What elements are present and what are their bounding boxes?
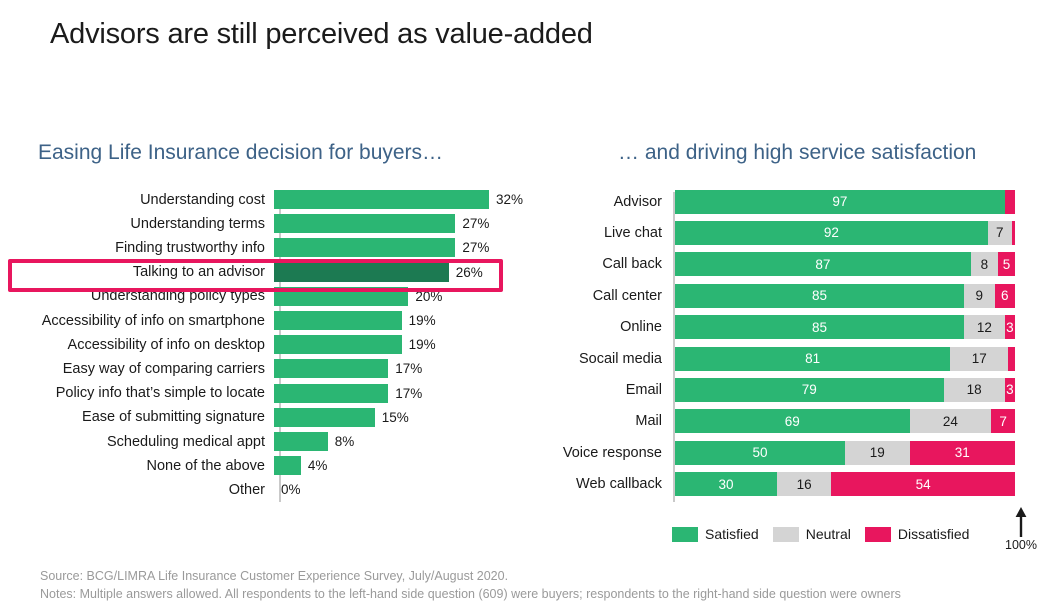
right-chart-stacked-bar: 927	[675, 221, 1015, 245]
right-chart-row: Socail media8117	[548, 343, 1048, 374]
left-chart-bar-wrapper: 15%	[274, 404, 540, 431]
footnotes: Source: BCG/LIMRA Life Insurance Custome…	[40, 568, 901, 604]
right-chart-row: Call back8785	[548, 249, 1048, 280]
left-chart-bar-wrapper: 27%	[274, 234, 540, 261]
right-chart-segment-dis: 3	[1005, 378, 1015, 402]
right-chart-category-label: Online	[548, 319, 668, 335]
left-chart-bar	[274, 359, 388, 378]
right-chart-row: Email79183	[548, 374, 1048, 405]
right-chart-segment-sat: 81	[675, 347, 950, 371]
left-chart-category-label: Understanding terms	[0, 216, 272, 232]
left-chart-row: Easy way of comparing carriers17%	[0, 355, 540, 382]
legend-swatch-icon	[865, 527, 891, 542]
left-chart-category-label: Scheduling medical appt	[0, 434, 272, 450]
right-chart-segment-sat: 69	[675, 409, 910, 433]
left-chart-bar-wrapper: 8%	[274, 428, 540, 455]
footnote-notes: Notes: Multiple answers allowed. All res…	[40, 586, 901, 604]
left-chart-bar-wrapper: 27%	[274, 210, 540, 237]
right-chart-segment-neu: 18	[944, 378, 1005, 402]
right-chart-segment-sat: 50	[675, 441, 845, 465]
left-chart-value-label: 4%	[308, 458, 328, 473]
chart-legend: SatisfiedNeutralDissatisfied	[672, 526, 969, 542]
left-chart-value-label: 15%	[382, 410, 409, 425]
right-chart-segment-dis	[1012, 221, 1015, 245]
right-chart-stacked-bar: 8596	[675, 284, 1015, 308]
left-chart-bar	[274, 214, 455, 233]
right-chart-segment-neu: 12	[964, 315, 1005, 339]
right-chart-row: Web callback301654	[548, 469, 1048, 500]
left-chart-bar-wrapper: 26%	[274, 259, 540, 286]
right-chart-segment-sat: 85	[675, 284, 964, 308]
left-chart-category-label: Accessibility of info on smartphone	[0, 313, 272, 329]
legend-item[interactable]: Neutral	[773, 526, 851, 542]
right-chart-stacked-bar: 301654	[675, 472, 1015, 496]
left-chart-bar-wrapper: 32%	[274, 186, 540, 213]
right-chart-row: Online85123	[548, 312, 1048, 343]
right-chart-segment-neu: 19	[845, 441, 910, 465]
left-chart-category-label: Other	[0, 482, 272, 498]
right-chart-row: Advisor97	[548, 186, 1048, 217]
left-chart-value-label: 8%	[335, 434, 355, 449]
left-chart-bar	[274, 408, 375, 427]
right-chart-segment-sat: 30	[675, 472, 777, 496]
right-chart-segment-neu: 24	[910, 409, 992, 433]
left-chart-category-label: Ease of submitting signature	[0, 409, 272, 425]
right-chart-segment-neu: 8	[971, 252, 998, 276]
left-chart-value-label: 17%	[395, 386, 422, 401]
left-panel-subtitle: Easing Life Insurance decision for buyer…	[38, 141, 443, 165]
left-chart-bar	[274, 287, 408, 306]
left-chart-value-label: 0%	[281, 482, 301, 497]
left-chart-value-label: 19%	[409, 313, 436, 328]
left-chart-bar	[274, 432, 328, 451]
left-chart-bar	[274, 190, 489, 209]
right-chart-row: Call center8596	[548, 280, 1048, 311]
right-chart-category-label: Advisor	[548, 194, 668, 210]
left-chart-value-label: 20%	[415, 289, 442, 304]
right-chart-category-label: Mail	[548, 413, 668, 429]
left-chart-row: Scheduling medical appt8%	[0, 428, 540, 455]
left-chart-category-label: Understanding cost	[0, 192, 272, 208]
right-chart-row: Mail69247	[548, 406, 1048, 437]
left-chart-category-label: Understanding policy types	[0, 288, 272, 304]
right-chart-stacked-bar: 501931	[675, 441, 1015, 465]
right-chart-category-label: Voice response	[548, 445, 668, 461]
right-chart-segment-dis: 3	[1005, 315, 1015, 339]
right-stacked-bar-chart: Advisor97Live chat927Call back8785Call c…	[548, 186, 1048, 506]
right-panel-subtitle: … and driving high service satisfaction	[618, 141, 976, 165]
left-bar-chart: Understanding cost32%Understanding terms…	[0, 186, 540, 506]
right-chart-segment-sat: 97	[675, 190, 1005, 214]
left-chart-category-label: Accessibility of info on desktop	[0, 337, 272, 353]
right-chart-stacked-bar: 85123	[675, 315, 1015, 339]
left-chart-row: Understanding terms27%	[0, 210, 540, 237]
legend-item[interactable]: Satisfied	[672, 526, 759, 542]
left-chart-bar-wrapper: 19%	[274, 331, 540, 358]
left-chart-category-label: Policy info that’s simple to locate	[0, 385, 272, 401]
right-chart-segment-dis: 54	[831, 472, 1015, 496]
right-chart-stacked-bar: 8785	[675, 252, 1015, 276]
left-chart-row: Understanding cost32%	[0, 186, 540, 213]
left-chart-row: Ease of submitting signature15%	[0, 404, 540, 431]
left-chart-bar	[274, 311, 402, 330]
right-chart-segment-neu: 16	[777, 472, 831, 496]
right-chart-category-label: Socail media	[548, 351, 668, 367]
right-chart-stacked-bar: 79183	[675, 378, 1015, 402]
left-chart-category-label: Talking to an advisor	[0, 264, 272, 280]
right-chart-segment-neu: 17	[950, 347, 1008, 371]
legend-swatch-icon	[773, 527, 799, 542]
right-chart-segment-sat: 79	[675, 378, 944, 402]
left-chart-bar-wrapper: 17%	[274, 355, 540, 382]
left-chart-bar	[274, 238, 455, 257]
left-chart-bar-wrapper: 17%	[274, 380, 540, 407]
axis-total-annotation: 100%	[993, 507, 1049, 552]
left-chart-bar-wrapper: 19%	[274, 307, 540, 334]
right-chart-segment-dis: 6	[995, 284, 1015, 308]
up-arrow-icon	[1013, 507, 1029, 537]
right-chart-category-label: Email	[548, 382, 668, 398]
legend-label: Dissatisfied	[898, 526, 970, 542]
left-chart-value-label: 19%	[409, 337, 436, 352]
left-chart-value-label: 27%	[462, 240, 489, 255]
right-chart-segment-sat: 92	[675, 221, 988, 245]
right-chart-segment-sat: 85	[675, 315, 964, 339]
right-chart-segment-neu: 7	[988, 221, 1012, 245]
right-chart-category-label: Web callback	[548, 476, 668, 492]
left-chart-bar-wrapper: 4%	[274, 452, 540, 479]
legend-label: Satisfied	[705, 526, 759, 542]
right-chart-segment-dis: 7	[991, 409, 1015, 433]
left-chart-value-label: 32%	[496, 192, 523, 207]
left-chart-bar	[274, 384, 388, 403]
legend-item[interactable]: Dissatisfied	[865, 526, 970, 542]
axis-total-label: 100%	[993, 538, 1049, 552]
right-chart-row: Live chat927	[548, 217, 1048, 248]
left-chart-bar	[274, 335, 402, 354]
right-chart-category-label: Live chat	[548, 225, 668, 241]
legend-swatch-icon	[672, 527, 698, 542]
left-chart-bar-wrapper: 0%	[274, 476, 540, 503]
footnote-source: Source: BCG/LIMRA Life Insurance Custome…	[40, 568, 901, 586]
left-chart-bar-wrapper: 20%	[274, 283, 540, 310]
right-chart-row: Voice response501931	[548, 437, 1048, 468]
left-chart-bar	[274, 456, 301, 475]
left-chart-row: Accessibility of info on desktop19%	[0, 331, 540, 358]
left-chart-value-label: 27%	[462, 216, 489, 231]
left-chart-row: Talking to an advisor26%	[0, 259, 540, 286]
right-chart-category-label: Call back	[548, 256, 668, 272]
right-chart-segment-sat: 87	[675, 252, 971, 276]
right-chart-stacked-bar: 69247	[675, 409, 1015, 433]
left-chart-row: Understanding policy types20%	[0, 283, 540, 310]
left-chart-value-label: 17%	[395, 361, 422, 376]
legend-label: Neutral	[806, 526, 851, 542]
left-chart-value-label: 26%	[456, 265, 483, 280]
left-chart-row: Policy info that’s simple to locate17%	[0, 380, 540, 407]
right-chart-segment-dis: 5	[998, 252, 1015, 276]
left-chart-row: None of the above4%	[0, 452, 540, 479]
right-chart-category-label: Call center	[548, 288, 668, 304]
right-chart-stacked-bar: 8117	[675, 347, 1015, 371]
right-chart-stacked-bar: 97	[675, 190, 1015, 214]
left-chart-row: Finding trustworthy info27%	[0, 234, 540, 261]
right-chart-segment-dis	[1005, 190, 1015, 214]
right-chart-segment-dis	[1008, 347, 1015, 371]
left-chart-bar	[274, 263, 449, 282]
left-chart-category-label: None of the above	[0, 458, 272, 474]
left-chart-category-label: Easy way of comparing carriers	[0, 361, 272, 377]
right-chart-segment-dis: 31	[910, 441, 1015, 465]
page-title: Advisors are still perceived as value-ad…	[50, 18, 593, 51]
left-chart-category-label: Finding trustworthy info	[0, 240, 272, 256]
right-chart-segment-neu: 9	[964, 284, 995, 308]
left-chart-row: Other0%	[0, 476, 540, 503]
left-chart-row: Accessibility of info on smartphone19%	[0, 307, 540, 334]
